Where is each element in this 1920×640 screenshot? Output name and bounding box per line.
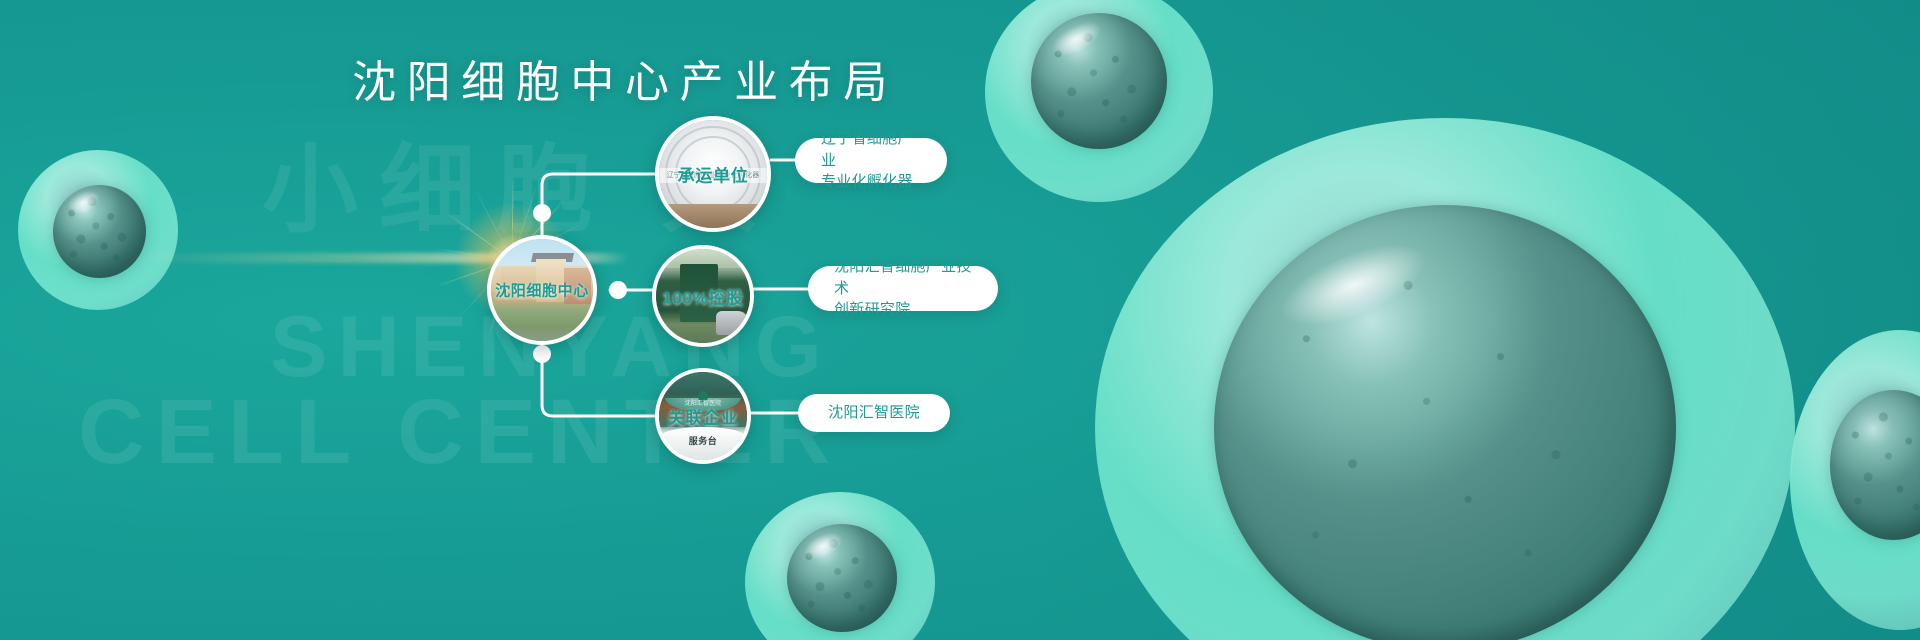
node-holding-percentage[interactable]: 100%控股	[652, 245, 754, 347]
page-title: 沈阳细胞中心产业布局	[0, 46, 1250, 110]
banner-stage: 小细胞 大 SHENYANG CELL CENTER 沈阳细胞中心产业布局	[0, 0, 1920, 640]
cell-nucleus	[1214, 205, 1676, 640]
node-holding-label: 100%控股	[656, 284, 750, 309]
node-affiliate-sublabel: 服务台	[659, 434, 747, 447]
cell-illustration-left	[18, 150, 178, 310]
holding-photo-car	[716, 311, 748, 335]
node-affiliated-enterprise[interactable]: 沈阳汇智医院 关联企业 服务台	[655, 368, 751, 464]
nucleus-texture	[1214, 205, 1676, 640]
label-pill-incubator-text: 辽宁省细胞产业 专业化孵化器	[821, 128, 921, 193]
label-pill-institute-text: 沈阳汇智细胞产业技术 创新研究院	[834, 256, 972, 321]
node-carrier-label: 承运单位	[659, 162, 767, 187]
label-pill-institute[interactable]: 沈阳汇智细胞产业技术 创新研究院	[808, 266, 998, 311]
label-pill-hospital-text: 沈阳汇智医院	[828, 402, 920, 424]
label-pill-hospital[interactable]: 沈阳汇智医院	[798, 394, 950, 432]
node-affiliate-label: 关联企业	[659, 404, 747, 429]
label-pill-incubator[interactable]: 辽宁省细胞产业 专业化孵化器	[795, 138, 947, 183]
node-carrier-unit[interactable]: 辽宁省细胞产业专业化孵化器 承运单位	[655, 116, 771, 232]
node-hub-cell-center[interactable]: 沈阳细胞中心	[487, 235, 597, 345]
node-hub-label: 沈阳细胞中心	[491, 280, 593, 301]
carrier-photo-floor	[659, 204, 767, 228]
